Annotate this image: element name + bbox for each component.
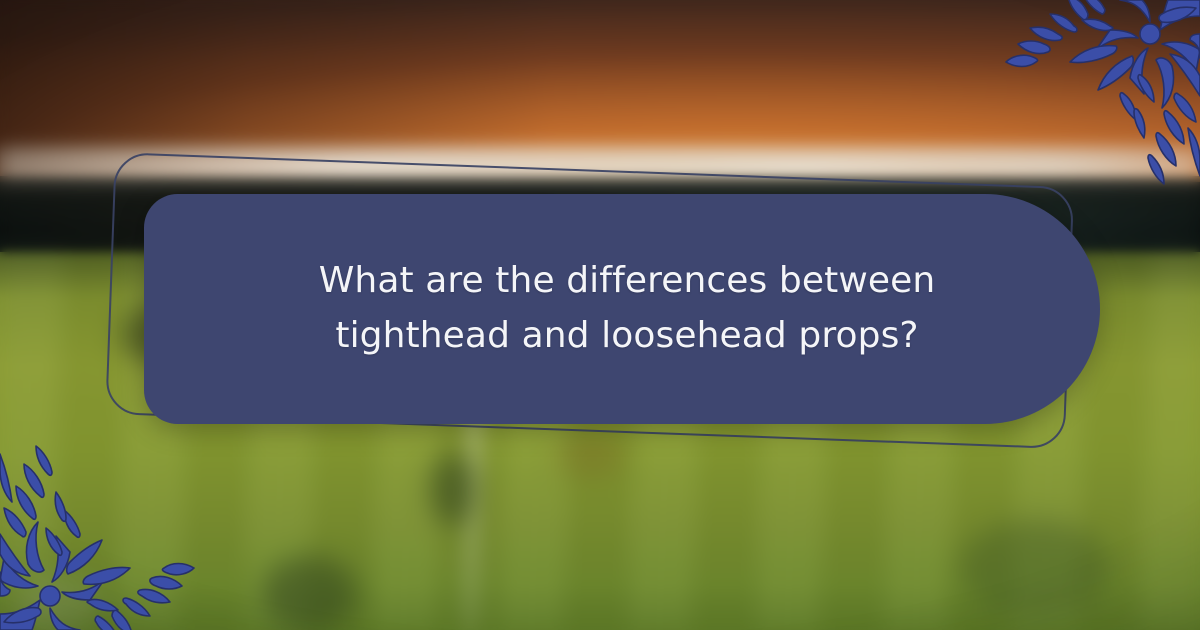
question-text: What are the differences between tighthe… xyxy=(182,254,1062,363)
damask-floral-corner-icon xyxy=(0,422,208,630)
question-card-stack: What are the differences between tighthe… xyxy=(108,152,1092,424)
pitch-blur-blob xyxy=(20,574,100,630)
question-card: What are the differences between tighthe… xyxy=(144,194,1100,424)
pitch-blur-blob xyxy=(960,520,1110,616)
pitch-blur-blob xyxy=(556,432,626,478)
pitch-blur-blob xyxy=(262,556,358,630)
pitch-blur-blob xyxy=(430,452,476,526)
poster-canvas: What are the differences between tighthe… xyxy=(0,0,1200,630)
